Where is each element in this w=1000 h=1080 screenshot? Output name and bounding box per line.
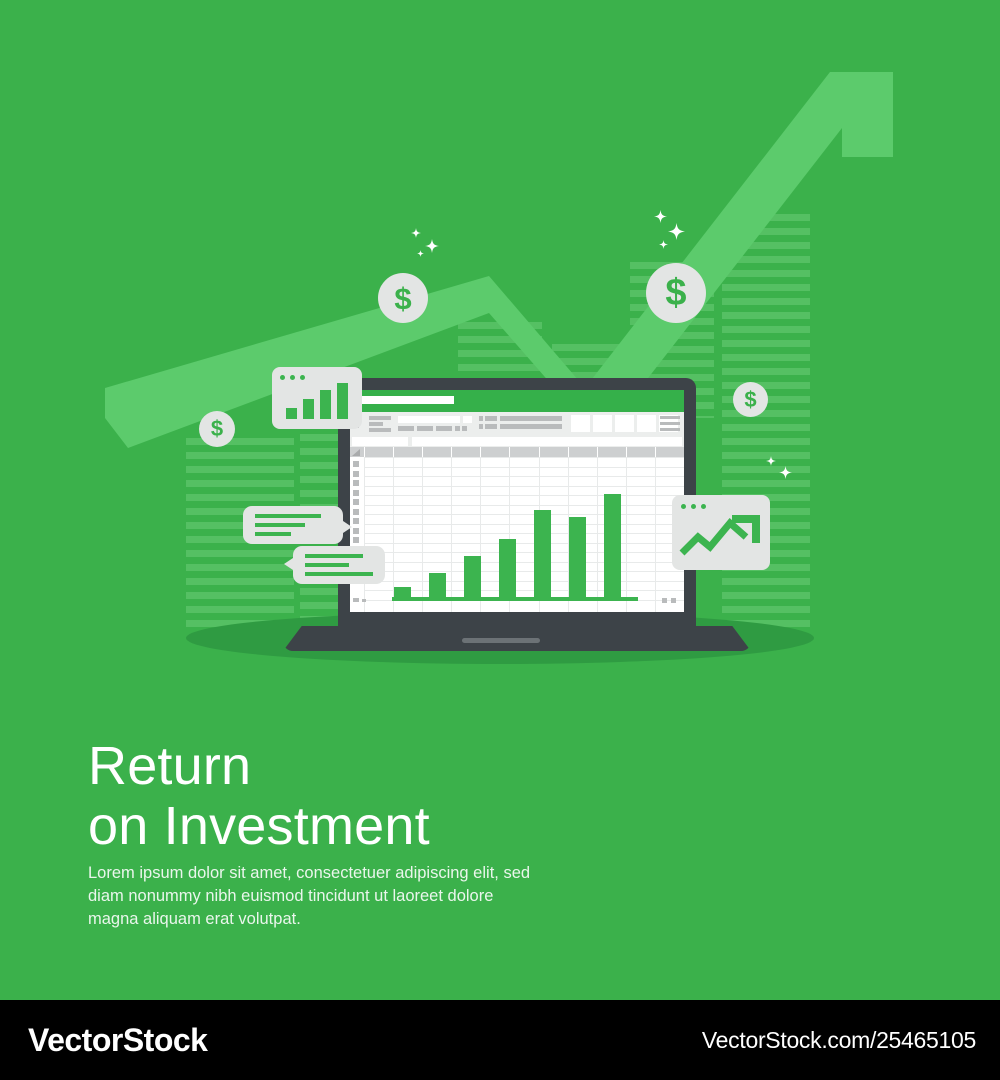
ribbon-list-value-2[interactable] — [500, 424, 562, 429]
ribbon-style-box-1[interactable] — [571, 415, 590, 432]
spreadsheet-title-bar — [350, 390, 684, 412]
bubble-line-2 — [305, 563, 349, 567]
spreadsheet-title-placeholder — [358, 396, 454, 404]
grid-row-line — [364, 552, 684, 553]
chat-bubble-upper-tail — [343, 521, 352, 533]
bubble-line-3 — [305, 572, 373, 576]
hamburger-line-2-icon[interactable] — [660, 422, 680, 425]
spreadsheet-grid[interactable] — [350, 447, 684, 612]
window-dot-1-icon — [280, 375, 285, 380]
ribbon-list-label-1[interactable] — [485, 416, 497, 421]
row-header-square[interactable] — [353, 537, 359, 543]
chat-bubble-upper[interactable] — [243, 506, 343, 544]
column-header-separator — [626, 447, 627, 457]
mini-chart-bar — [286, 408, 297, 419]
mini-bar-chart-widget[interactable] — [272, 367, 362, 429]
row-header-square[interactable] — [353, 461, 359, 467]
ribbon-style-box-4[interactable] — [637, 415, 656, 432]
vectorstock-logo: VectorStock — [28, 1022, 207, 1059]
dollar-sign-icon: $ — [665, 274, 686, 312]
sparkle-e — [668, 223, 685, 240]
chart-bar — [569, 517, 586, 599]
mini-chart-bar — [337, 383, 348, 419]
row-header-square[interactable] — [353, 528, 359, 534]
column-header-separator — [568, 447, 569, 457]
chart-bar — [604, 494, 621, 599]
dollar-sign-icon: $ — [394, 283, 411, 314]
grid-row-line — [364, 467, 684, 468]
row-header-square[interactable] — [353, 509, 359, 515]
grid-row-line — [364, 562, 684, 563]
sparkle-d — [654, 210, 667, 223]
ribbon-wrap-text[interactable] — [455, 426, 460, 431]
mini-chart-bar — [320, 390, 331, 419]
dollar-sign-icon: $ — [744, 389, 756, 411]
column-header-separator — [539, 447, 540, 457]
row-header-square[interactable] — [353, 490, 359, 496]
row-header-square[interactable] — [353, 471, 359, 477]
trend-line-icon — [672, 495, 770, 570]
chart-bar — [534, 510, 551, 599]
grid-column-line — [597, 457, 598, 612]
ribbon-style-box-3[interactable] — [615, 415, 634, 432]
grid-row-line — [364, 581, 684, 582]
window-dot-2-icon — [290, 375, 295, 380]
chart-bar — [499, 539, 516, 599]
chat-bubble-lower-tail — [284, 558, 293, 570]
formula-input[interactable] — [412, 437, 682, 446]
grid-row-line — [364, 505, 684, 506]
column-header-row[interactable] — [350, 447, 684, 457]
ribbon-style-box-2[interactable] — [593, 415, 612, 432]
status-indicator-left — [353, 598, 359, 602]
select-all-corner-icon[interactable] — [350, 447, 364, 457]
headline-line-1: Return — [88, 736, 768, 796]
ribbon-align-left[interactable] — [398, 426, 414, 431]
coin-large-right: $ — [646, 263, 706, 323]
grid-row-line — [364, 457, 684, 458]
column-header-separator — [597, 447, 598, 457]
body-copy: Lorem ipsum dolor sit amet, consectetuer… — [88, 862, 533, 931]
sparkle-h — [779, 466, 792, 479]
grid-column-line — [364, 457, 365, 612]
ribbon-font-size[interactable] — [369, 422, 383, 426]
status-indicator-right2 — [671, 598, 676, 603]
bubble-line-3 — [255, 532, 291, 536]
row-header-square[interactable] — [353, 518, 359, 524]
grid-column-line — [422, 457, 423, 612]
grid-row-line — [364, 590, 684, 591]
ribbon-field-main[interactable] — [398, 416, 460, 423]
ribbon-font-style[interactable] — [369, 428, 391, 432]
sparkle-a — [411, 228, 421, 238]
footer-bar: VectorStock VectorStock.com/25465105 — [0, 1000, 1000, 1080]
chart-bar — [464, 556, 481, 599]
grid-row-line — [364, 543, 684, 544]
grid-row-line — [364, 486, 684, 487]
spreadsheet-ribbon[interactable] — [350, 412, 684, 436]
trend-arrow-widget[interactable] — [672, 495, 770, 570]
ribbon-list-bullet-2[interactable] — [479, 424, 483, 429]
bubble-line-2 — [255, 523, 305, 527]
sparkle-c — [417, 250, 424, 257]
ribbon-align-center[interactable] — [417, 426, 433, 431]
cell-name-box[interactable] — [352, 437, 408, 446]
coin-mid-left: $ — [378, 273, 428, 323]
sparkle-f — [659, 240, 668, 249]
grid-column-line — [626, 457, 627, 612]
grid-row-line — [364, 476, 684, 477]
hamburger-line-3-icon[interactable] — [660, 428, 680, 431]
sparkle-b — [425, 239, 439, 253]
mini-chart-bar — [303, 399, 314, 419]
headline-line-2: on Investment — [88, 796, 768, 856]
status-indicator-left2 — [362, 599, 366, 602]
grid-row-line — [364, 524, 684, 525]
column-header-separator — [393, 447, 394, 457]
column-header-separator — [480, 447, 481, 457]
row-header-square[interactable] — [353, 480, 359, 486]
vectorstock-url: VectorStock.com/25465105 — [702, 1027, 976, 1054]
column-header-separator — [422, 447, 423, 457]
laptop-screen — [350, 390, 684, 612]
column-header-separator — [655, 447, 656, 457]
ribbon-font-name[interactable] — [369, 416, 391, 420]
ribbon-field-small[interactable] — [463, 416, 472, 423]
column-header-separator — [509, 447, 510, 457]
ribbon-list-label-2[interactable] — [485, 424, 497, 429]
grid-row-line — [364, 571, 684, 572]
bar-chart-baseline — [392, 597, 638, 601]
grid-row-line — [364, 514, 684, 515]
laptop-touchpad-notch — [462, 638, 540, 643]
page-title: Return on Investment — [88, 736, 768, 856]
ribbon-align-right[interactable] — [436, 426, 452, 431]
column-header-separator — [364, 447, 365, 457]
ribbon-list-bullet-1[interactable] — [479, 416, 483, 421]
status-indicator-right — [662, 598, 667, 603]
sparkle-g — [766, 456, 776, 466]
dollar-sign-icon: $ — [211, 418, 223, 440]
grid-row-line — [364, 495, 684, 496]
chart-bar — [429, 573, 446, 599]
bubble-line-1 — [305, 554, 363, 558]
row-header-square[interactable] — [353, 499, 359, 505]
illustration-canvas: $$$$ — [0, 0, 1000, 1080]
column-header-separator — [451, 447, 452, 457]
grid-column-line — [451, 457, 452, 612]
grid-column-line — [655, 457, 656, 612]
coin-small-left: $ — [199, 411, 235, 447]
bubble-line-1 — [255, 514, 321, 518]
formula-bar[interactable] — [350, 436, 684, 447]
chat-bubble-lower[interactable] — [293, 546, 385, 584]
coin-small-right: $ — [733, 382, 768, 417]
ribbon-list-value-1[interactable] — [500, 416, 562, 421]
ribbon-merge-cells[interactable] — [462, 426, 467, 431]
hamburger-line-1-icon[interactable] — [660, 416, 680, 419]
window-dot-3-icon — [300, 375, 305, 380]
grid-row-line — [364, 533, 684, 534]
